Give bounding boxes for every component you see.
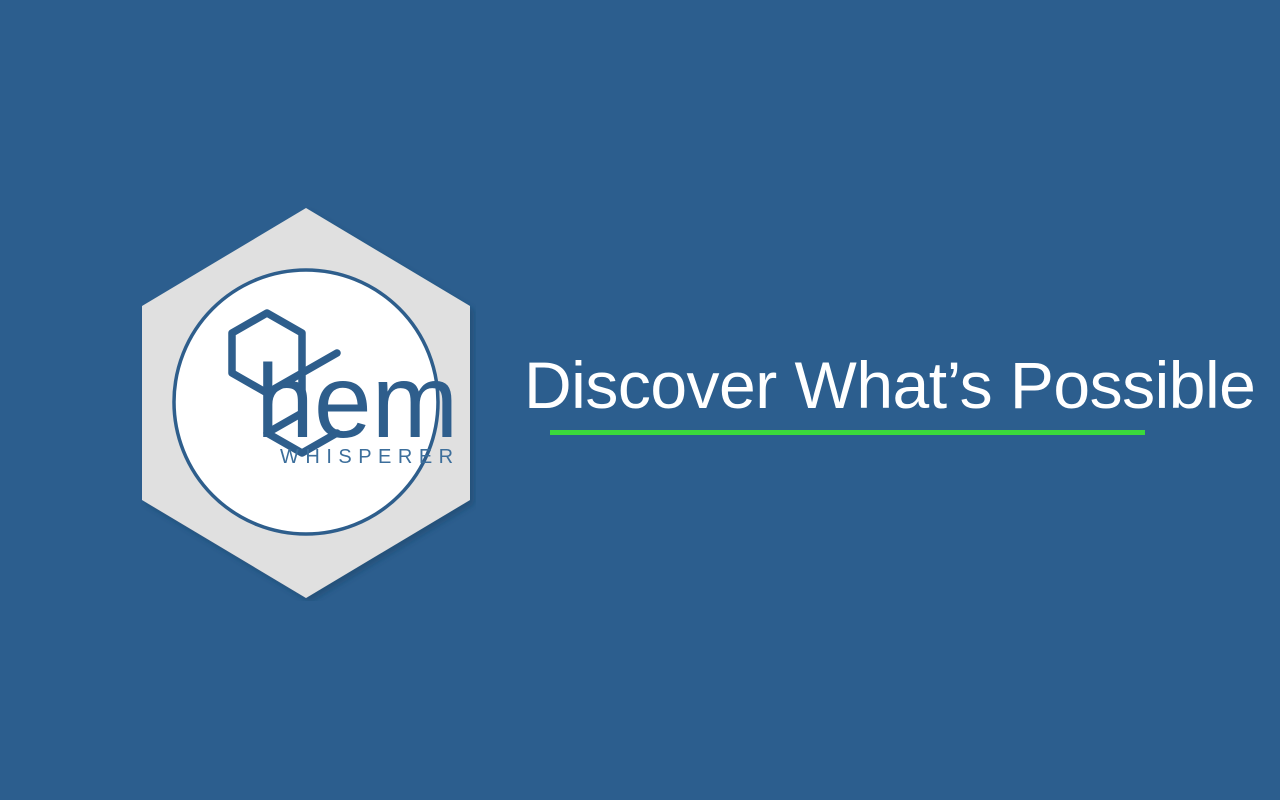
logo-svg: hem WHISPERER [136, 205, 476, 601]
tagline-underline [550, 430, 1145, 435]
chem-whisperer-logo: hem WHISPERER [136, 205, 476, 601]
logo-wordmark: hem [256, 344, 458, 460]
tagline-block: Discover What’s Possible [524, 352, 1224, 435]
title-slide: hem WHISPERER Discover What’s Possible [0, 0, 1280, 800]
tagline-text: Discover What’s Possible [524, 352, 1224, 418]
logo-subwordmark: WHISPERER [280, 446, 460, 468]
